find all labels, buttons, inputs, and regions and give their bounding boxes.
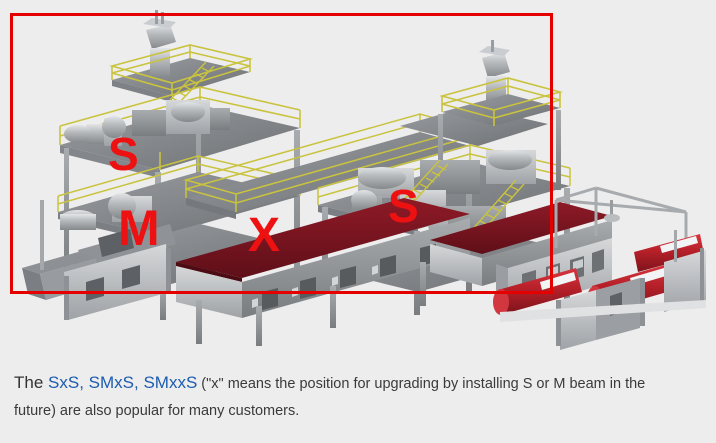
machine-illustration: S M X S xyxy=(0,0,716,356)
caption-block: The SxS, SMxS, SMxxS ("x" means the posi… xyxy=(0,356,716,443)
caption-line-2: future) are also popular for many custom… xyxy=(14,398,702,425)
overlay-label-s-first: S xyxy=(108,131,139,177)
caption-line-1: The SxS, SMxS, SMxxS ("x" means the posi… xyxy=(14,369,702,398)
caption-product-codes-link[interactable]: SxS, SMxS, SMxxS xyxy=(48,373,197,392)
overlay-label-m: M xyxy=(118,203,160,253)
product-image-with-caption: S M X S The SxS, SMxS, SMxxS ("x" means … xyxy=(0,0,716,443)
overlay-label-x: X xyxy=(248,212,280,260)
caption-explanation-text: ("x" means the position for upgrading by… xyxy=(197,376,645,392)
overlay-label-s-second: S xyxy=(388,183,419,229)
caption-lead-text: The xyxy=(14,373,48,392)
